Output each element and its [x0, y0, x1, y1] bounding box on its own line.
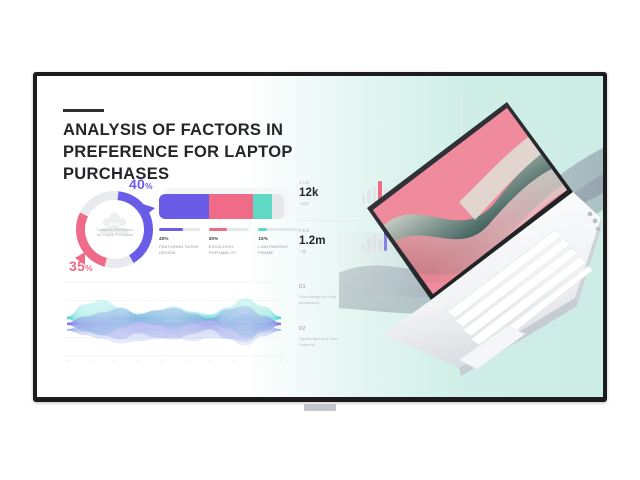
page-title-line1: ANALYSIS OF FACTORS IN	[63, 121, 283, 139]
note-text-line1: Lightweight and Sure	[299, 337, 338, 341]
legend-percent: 15%	[258, 236, 299, 241]
donut-label-40: 40%	[129, 176, 153, 192]
stacked-bar-segment-0	[159, 194, 209, 219]
legend-fill	[159, 228, 183, 231]
legend: 40% FEATURING SLEEK DESIGN 35% EXCELLENT…	[159, 228, 299, 256]
donut-label-40-unit: %	[145, 181, 153, 191]
legend-track	[209, 228, 250, 231]
legend-label: EXCELLENT PORTABILITY	[209, 244, 250, 256]
donut-center-label-line1: Factors in Preference	[97, 228, 133, 232]
title-rule	[63, 109, 104, 112]
note-text-line2: Powerful	[299, 343, 315, 347]
legend-fill	[209, 228, 228, 231]
legend-fill	[258, 228, 267, 231]
legend-percent: 40%	[159, 236, 200, 241]
legend-item: 40% FEATURING SLEEK DESIGN	[159, 228, 200, 256]
donut-label-40-value: 40	[129, 176, 145, 192]
monitor-screen: ANALYSIS OF FACTORS IN PREFERENCE FOR LA…	[37, 76, 603, 397]
note-text-line1: Slim Design for Your	[299, 295, 336, 299]
donut-center-label-line2: for Laptop Purchases	[97, 233, 133, 237]
stacked-bar-segment-1	[209, 194, 253, 219]
legend-track	[159, 228, 200, 231]
legend-item: 35% EXCELLENT PORTABILITY	[209, 228, 250, 256]
screenshot-root: ANALYSIS OF FACTORS IN PREFERENCE FOR LA…	[0, 0, 640, 480]
stacked-bar-segment-3	[272, 194, 285, 219]
wave-chart	[63, 276, 285, 368]
donut-center-label: Factors in Preference for Laptop Purchas…	[83, 228, 147, 238]
legend-item: 15% LIGHTWEIGHT FRAME	[258, 228, 299, 256]
legend-track	[258, 228, 299, 231]
legend-percent: 35%	[209, 236, 250, 241]
legend-label: LIGHTWEIGHT FRAME	[258, 244, 299, 256]
brand-logo-mark	[304, 404, 336, 411]
stacked-bar-chart	[159, 194, 284, 219]
donut-label-35: 35%	[69, 258, 93, 274]
monitor-device: ANALYSIS OF FACTORS IN PREFERENCE FOR LA…	[33, 72, 607, 402]
stacked-bar-segment-2	[253, 194, 272, 219]
laptop-hero-image	[339, 82, 603, 392]
legend-label: FEATURING SLEEK DESIGN	[159, 244, 200, 256]
donut-label-35-unit: %	[85, 263, 93, 273]
note-text-line2: Monetizing	[299, 301, 319, 305]
slide-canvas: ANALYSIS OF FACTORS IN PREFERENCE FOR LA…	[37, 76, 603, 397]
laptop-illustration	[339, 82, 603, 392]
wave-chart-svg	[63, 276, 285, 368]
donut-label-35-value: 35	[69, 258, 85, 274]
